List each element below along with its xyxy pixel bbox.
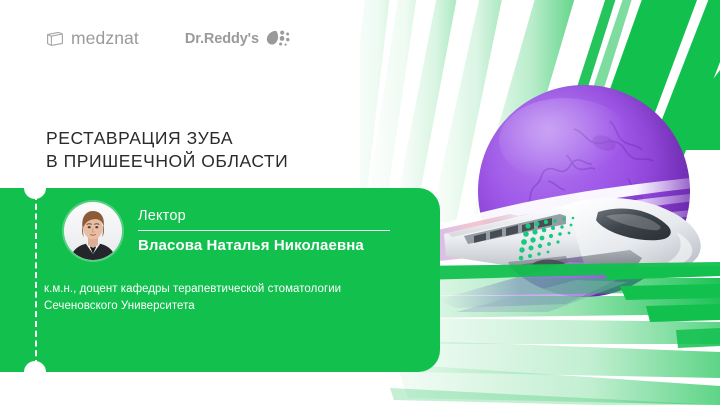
lecturer-description-line-2: Сеченовского Университета bbox=[44, 298, 341, 315]
avatar-portrait-icon bbox=[64, 202, 122, 260]
logo-bar: medznat Dr.Reddy's bbox=[46, 28, 292, 49]
page-title: РЕСТАВРАЦИЯ ЗУБА В ПРИШЕЕЧНОЙ ОБЛАСТИ bbox=[46, 127, 288, 173]
page-title-line-1: РЕСТАВРАЦИЯ ЗУБА bbox=[46, 127, 288, 150]
lecturer-ticket-card: Лектор Власова Наталья Николаевна к.м.н.… bbox=[0, 188, 440, 372]
logo-medznat-label: medznat bbox=[71, 28, 139, 49]
folder-outline-icon bbox=[46, 31, 64, 47]
lecturer-row: Лектор Власова Наталья Николаевна bbox=[64, 202, 390, 260]
logo-dr-reddys-label: Dr.Reddy's bbox=[185, 31, 259, 47]
avatar bbox=[64, 202, 122, 260]
page-title-line-2: В ПРИШЕЕЧНОЙ ОБЛАСТИ bbox=[46, 150, 288, 173]
lecturer-name: Власова Наталья Николаевна bbox=[138, 237, 390, 255]
presentation-slide: medznat Dr.Reddy's РЕСТАВРАЦИЯ ЗУБА В ПР… bbox=[0, 0, 720, 405]
logo-dr-reddys[interactable]: Dr.Reddy's bbox=[185, 29, 292, 49]
ticket-content: Лектор Власова Наталья Николаевна к.м.н.… bbox=[64, 188, 426, 372]
lecturer-label: Лектор bbox=[138, 208, 390, 225]
lecturer-texts: Лектор Власова Наталья Николаевна bbox=[138, 207, 390, 255]
logo-medznat[interactable]: medznat bbox=[46, 28, 139, 49]
dr-reddys-droplet-icon bbox=[266, 29, 292, 49]
lecturer-description-line-1: к.м.н., доцент кафедры терапевтической с… bbox=[44, 281, 341, 298]
lecturer-description: к.м.н., доцент кафедры терапевтической с… bbox=[44, 281, 341, 314]
lecturer-divider bbox=[138, 230, 390, 231]
ticket-perforation-line bbox=[35, 194, 37, 366]
